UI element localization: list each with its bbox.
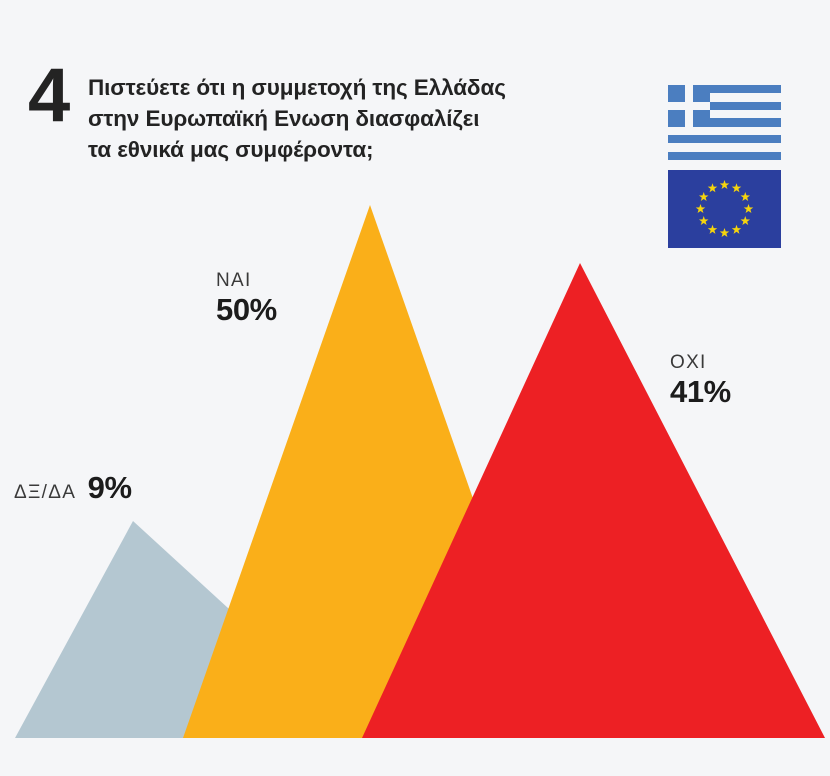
data-label-oxi-percent: 41% — [670, 374, 731, 410]
data-label-dk: ΔΞ/ΔΑ 9% — [14, 470, 132, 506]
data-label-dk-category: ΔΞ/ΔΑ — [14, 482, 76, 503]
data-label-nai-percent: 50% — [216, 292, 277, 328]
data-label-oxi: ΟΧΙ 41% — [670, 352, 731, 409]
data-label-nai-category: ΝΑΙ — [216, 270, 277, 292]
data-label-dk-percent: 9% — [88, 470, 132, 505]
data-label-oxi-category: ΟΧΙ — [670, 352, 731, 374]
data-label-nai: ΝΑΙ 50% — [216, 270, 277, 327]
infographic-poll-slide: 4 Πιστεύετε ότι η συμμετοχή της Ελλάδας … — [0, 0, 830, 776]
